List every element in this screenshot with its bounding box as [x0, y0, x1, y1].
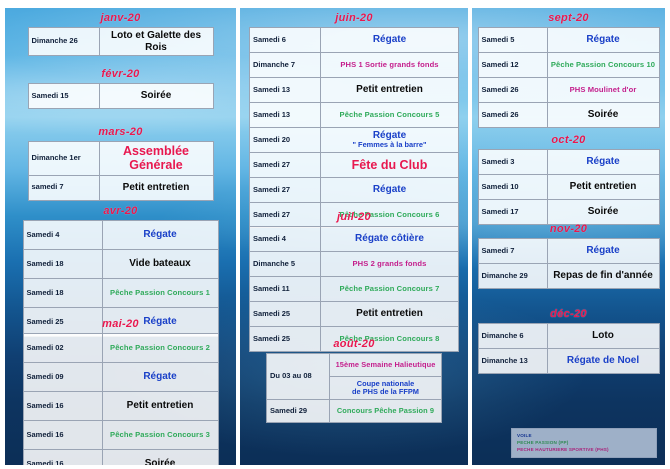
event-label: Loto — [592, 330, 614, 341]
row-event: Régate de Noel — [547, 349, 659, 374]
calendar-poster: janv-20Dimanche 26Loto et Galette des Ro… — [0, 0, 670, 469]
row-date: Samedi 26 — [478, 103, 547, 128]
row-date: Samedi 29 — [267, 400, 330, 423]
event-label: Petit entretien — [123, 182, 190, 193]
event-label: Pêche Passion Concours 7 — [340, 284, 440, 293]
month-table: Samedi 3RégateSamedi 10Petit entretienSa… — [478, 149, 660, 225]
event-label: Petit entretien — [127, 400, 194, 411]
table-row: Samedi 15Soirée — [28, 84, 213, 109]
event-label: Régate — [373, 184, 406, 195]
row-event: Pêche Passion Concours 5 — [321, 103, 459, 128]
row-event: Petit entretien — [321, 78, 459, 103]
month-title: juil-20 — [240, 211, 468, 223]
event-label: Repas de fin d'année — [553, 270, 653, 281]
event-label: Soirée — [588, 109, 619, 120]
event-label: 15ème Semaine Halieutique — [336, 360, 436, 369]
row-event: Pêche Passion Concours 10 — [547, 53, 659, 78]
row-date: Dimanche 5 — [250, 252, 321, 277]
table-row: Samedi 27Fête du Club — [250, 153, 459, 178]
month-block-mai: mai-20Samedi 02Pêche Passion Concours 2S… — [5, 318, 236, 469]
table-row: Samedi 3Régate — [478, 150, 659, 175]
event-label: PHS 1 Sortie grands fonds — [340, 60, 438, 69]
event-label: Pêche Passion Concours 1 — [110, 288, 210, 297]
legend-peche-hauturiere: PECHE HAUTURIERE SPORTIVE (PHS) — [517, 446, 651, 453]
table-row: Samedi 12Pêche Passion Concours 10 — [478, 53, 659, 78]
row-date: Samedi 5 — [478, 28, 547, 53]
row-date: Samedi 3 — [478, 150, 547, 175]
row-date: Samedi 13 — [250, 78, 321, 103]
row-date: Samedi 16 — [23, 421, 102, 450]
event-label: PHS 2 grands fonds — [353, 259, 427, 268]
row-date: Samedi 18 — [23, 279, 102, 308]
event-label: Soirée — [141, 90, 172, 101]
row-event: PHS 1 Sortie grands fonds — [321, 53, 459, 78]
table-row: Samedi 18Pêche Passion Concours 1 — [23, 279, 218, 308]
row-event: Régate — [321, 178, 459, 203]
row-date: Samedi 09 — [23, 363, 102, 392]
table-row: Dimanche 13Régate de Noel — [478, 349, 659, 374]
row-date: Samedi 10 — [478, 175, 547, 200]
month-table: Dimanche 26Loto et Galette des Rois — [28, 27, 214, 56]
legend-voile: VOILE — [517, 432, 651, 439]
row-date: Du 03 au 08 — [267, 354, 330, 400]
row-date: Dimanche 26 — [28, 28, 99, 56]
row-date: Dimanche 29 — [478, 264, 547, 289]
top-white-band — [0, 0, 670, 8]
column-middle: juin-20Samedi 6RégateDimanche 7PHS 1 Sor… — [240, 8, 468, 465]
row-event: Régate côtière — [321, 227, 459, 252]
row-event: Coupe nationalede PHS de la FFPM — [330, 377, 442, 400]
row-event: Régate" Femmes à la barre" — [321, 128, 459, 153]
month-block-juil: juil-20Samedi 4Régate côtièreDimanche 5P… — [240, 211, 468, 352]
table-row: Samedi 18Vide bateaux — [23, 250, 218, 279]
month-block-sept: sept-20Samedi 5RégateSamedi 12Pêche Pass… — [472, 12, 665, 128]
event-label: Régate — [586, 245, 619, 256]
event-label: Petit entretien — [356, 308, 423, 319]
column-right: sept-20Samedi 5RégateSamedi 12Pêche Pass… — [472, 8, 665, 465]
table-row: Samedi 20Régate" Femmes à la barre" — [250, 128, 459, 153]
row-event: Petit entretien — [547, 175, 659, 200]
row-event: Soirée — [99, 84, 213, 109]
row-event: PHS 2 grands fonds — [321, 252, 459, 277]
event-label: Pêche Passion Concours 3 — [110, 430, 210, 439]
month-block-janv: janv-20Dimanche 26Loto et Galette des Ro… — [5, 12, 236, 56]
row-date: Samedi 12 — [478, 53, 547, 78]
table-row: Samedi 27Régate — [250, 178, 459, 203]
month-block-oct: oct-20Samedi 3RégateSamedi 10Petit entre… — [472, 134, 665, 225]
event-label: Pêche Passion Concours 5 — [340, 110, 440, 119]
row-date: Dimanche 7 — [250, 53, 321, 78]
row-date: Samedi 11 — [250, 277, 321, 302]
table-row: Dimanche 5PHS 2 grands fonds — [250, 252, 459, 277]
month-title: févr-20 — [5, 68, 236, 80]
row-event: Petit entretien — [99, 175, 213, 200]
month-block-mars: mars-20Dimanche 1erAssemblée Généralesam… — [5, 126, 236, 201]
row-date: Samedi 7 — [478, 239, 547, 264]
event-label: Loto et Galette des Rois — [111, 30, 201, 53]
row-date: Samedi 25 — [250, 302, 321, 327]
event-label: Régate — [143, 229, 176, 240]
row-event: PHS Moulinet d'or — [547, 78, 659, 103]
table-row: Samedi 29Concours Pêche Passion 9 — [267, 400, 442, 423]
row-date: Samedi 16 — [23, 392, 102, 421]
month-table: Du 03 au 0815ème Semaine HalieutiqueCoup… — [266, 353, 442, 423]
table-row: Dimanche 1erAssemblée Générale — [28, 142, 213, 176]
row-event: Régate — [547, 239, 659, 264]
row-date: Samedi 20 — [250, 128, 321, 153]
table-row: Samedi 16Petit entretien — [23, 392, 218, 421]
month-title: août-20 — [240, 338, 468, 350]
event-label: Concours Pêche Passion 9 — [337, 406, 434, 415]
table-row: samedi 7Petit entretien — [28, 175, 213, 200]
month-title: mars-20 — [5, 126, 236, 138]
row-date: Samedi 17 — [478, 200, 547, 225]
legend-peche-passion: PECHE PASSION (PP) — [517, 439, 651, 446]
event-label: Vide bateaux — [129, 258, 191, 269]
event-label: Régate — [143, 371, 176, 382]
row-date: Samedi 26 — [478, 78, 547, 103]
month-block-nov: nov-20Samedi 7RégateDimanche 29Repas de … — [472, 223, 665, 289]
row-event: Petit entretien — [102, 392, 218, 421]
table-row: Dimanche 26Loto et Galette des Rois — [28, 28, 213, 56]
row-date: Samedi 27 — [250, 178, 321, 203]
month-title: nov-20 — [472, 223, 665, 235]
table-row: Samedi 11Pêche Passion Concours 7 — [250, 277, 459, 302]
table-row: Samedi 02Pêche Passion Concours 2 — [23, 334, 218, 363]
month-table: Dimanche 1erAssemblée Généralesamedi 7Pe… — [28, 141, 214, 201]
row-event: Pêche Passion Concours 7 — [321, 277, 459, 302]
table-row: Du 03 au 0815ème Semaine Halieutique — [267, 354, 442, 377]
row-date: samedi 7 — [28, 175, 99, 200]
row-event: Soirée — [547, 103, 659, 128]
table-row: Samedi 10Petit entretien — [478, 175, 659, 200]
bottom-white-band — [0, 465, 670, 469]
month-title: déc-20 — [472, 308, 665, 320]
event-label: Pêche Passion Concours 2 — [110, 343, 210, 352]
month-table: Samedi 4Régate côtièreDimanche 5PHS 2 gr… — [249, 226, 459, 352]
month-title: mai-20 — [5, 318, 236, 330]
row-date: Samedi 13 — [250, 103, 321, 128]
row-event: 15ème Semaine Halieutique — [330, 354, 442, 377]
month-block-fevr: févr-20Samedi 15Soirée — [5, 68, 236, 109]
table-row: Samedi 16Pêche Passion Concours 3 — [23, 421, 218, 450]
table-row: Samedi 5Régate — [478, 28, 659, 53]
table-row: Samedi 25Petit entretien — [250, 302, 459, 327]
month-table: Samedi 5RégateSamedi 12Pêche Passion Con… — [478, 27, 660, 128]
row-date: Dimanche 6 — [478, 324, 547, 349]
month-table: Dimanche 6LotoDimanche 13Régate de Noel — [478, 323, 660, 374]
row-date: Samedi 4 — [23, 221, 102, 250]
row-date: Samedi 15 — [28, 84, 99, 109]
month-table: Samedi 7RégateDimanche 29Repas de fin d'… — [478, 238, 660, 289]
month-title: oct-20 — [472, 134, 665, 146]
right-white-edge — [665, 0, 670, 469]
row-event: Pêche Passion Concours 1 — [102, 279, 218, 308]
table-row: Samedi 4Régate côtière — [250, 227, 459, 252]
table-row: Samedi 26Soirée — [478, 103, 659, 128]
panel-separator-2 — [468, 0, 472, 469]
row-event: Loto et Galette des Rois — [99, 28, 213, 56]
month-block-dec: déc-20Dimanche 6LotoDimanche 13Régate de… — [472, 308, 665, 374]
row-event: Assemblée Générale — [99, 142, 213, 176]
month-title: avr-20 — [5, 205, 236, 217]
row-date: Samedi 6 — [250, 28, 321, 53]
month-block-aout: août-20Du 03 au 0815ème Semaine Halieuti… — [240, 338, 468, 423]
table-row: Samedi 4Régate — [23, 221, 218, 250]
event-label: Régate — [373, 34, 406, 45]
row-event: Repas de fin d'année — [547, 264, 659, 289]
row-date: Samedi 27 — [250, 153, 321, 178]
row-event: Vide bateaux — [102, 250, 218, 279]
event-label: Assemblée Générale — [123, 144, 189, 172]
month-table: Samedi 02Pêche Passion Concours 2Samedi … — [23, 333, 219, 469]
row-date: Dimanche 1er — [28, 142, 99, 176]
event-label: Petit entretien — [356, 84, 423, 95]
row-event: Concours Pêche Passion 9 — [330, 400, 442, 423]
row-event: Régate — [102, 363, 218, 392]
row-event: Loto — [547, 324, 659, 349]
event-sublabel: " Femmes à la barre" — [324, 141, 455, 150]
row-event: Régate — [102, 221, 218, 250]
column-left: janv-20Dimanche 26Loto et Galette des Ro… — [5, 8, 236, 465]
event-label: Régate — [586, 34, 619, 45]
row-event: Pêche Passion Concours 3 — [102, 421, 218, 450]
event-label: Fête du Club — [352, 158, 428, 172]
left-white-edge — [0, 0, 5, 469]
table-row: Dimanche 29Repas de fin d'année — [478, 264, 659, 289]
row-date: Samedi 18 — [23, 250, 102, 279]
row-event: Fête du Club — [321, 153, 459, 178]
event-label: Petit entretien — [570, 181, 637, 192]
panel-separator-1 — [236, 0, 240, 469]
row-date: Dimanche 13 — [478, 349, 547, 374]
table-row: Dimanche 6Loto — [478, 324, 659, 349]
event-label: Régate de Noel — [567, 355, 639, 366]
legend-box: VOILE PECHE PASSION (PP) PECHE HAUTURIER… — [511, 428, 657, 458]
event-label: Pêche Passion Concours 10 — [551, 60, 655, 69]
table-row: Samedi 6Régate — [250, 28, 459, 53]
table-row: Samedi 13Pêche Passion Concours 5 — [250, 103, 459, 128]
row-event: Régate — [321, 28, 459, 53]
month-table: Samedi 6RégateDimanche 7PHS 1 Sortie gra… — [249, 27, 459, 228]
table-row: Samedi 17Soirée — [478, 200, 659, 225]
month-title: juin-20 — [240, 12, 468, 24]
table-row: Dimanche 7PHS 1 Sortie grands fonds — [250, 53, 459, 78]
row-event: Pêche Passion Concours 2 — [102, 334, 218, 363]
table-row: Samedi 09Régate — [23, 363, 218, 392]
event-sublabel: de PHS de la FFPM — [333, 388, 438, 397]
event-label: Régate — [586, 156, 619, 167]
table-row: Samedi 13Petit entretien — [250, 78, 459, 103]
row-date: Samedi 4 — [250, 227, 321, 252]
row-event: Régate — [547, 150, 659, 175]
month-title: janv-20 — [5, 12, 236, 24]
row-event: Soirée — [547, 200, 659, 225]
table-row: Samedi 26PHS Moulinet d'or — [478, 78, 659, 103]
month-table: Samedi 15Soirée — [28, 83, 214, 109]
row-event: Régate — [547, 28, 659, 53]
month-title: sept-20 — [472, 12, 665, 24]
row-date: Samedi 02 — [23, 334, 102, 363]
table-row: Samedi 7Régate — [478, 239, 659, 264]
row-event: Petit entretien — [321, 302, 459, 327]
event-label: Soirée — [588, 206, 619, 217]
event-label: Régate côtière — [355, 233, 424, 244]
event-label: PHS Moulinet d'or — [570, 85, 637, 94]
month-block-juin: juin-20Samedi 6RégateDimanche 7PHS 1 Sor… — [240, 12, 468, 228]
